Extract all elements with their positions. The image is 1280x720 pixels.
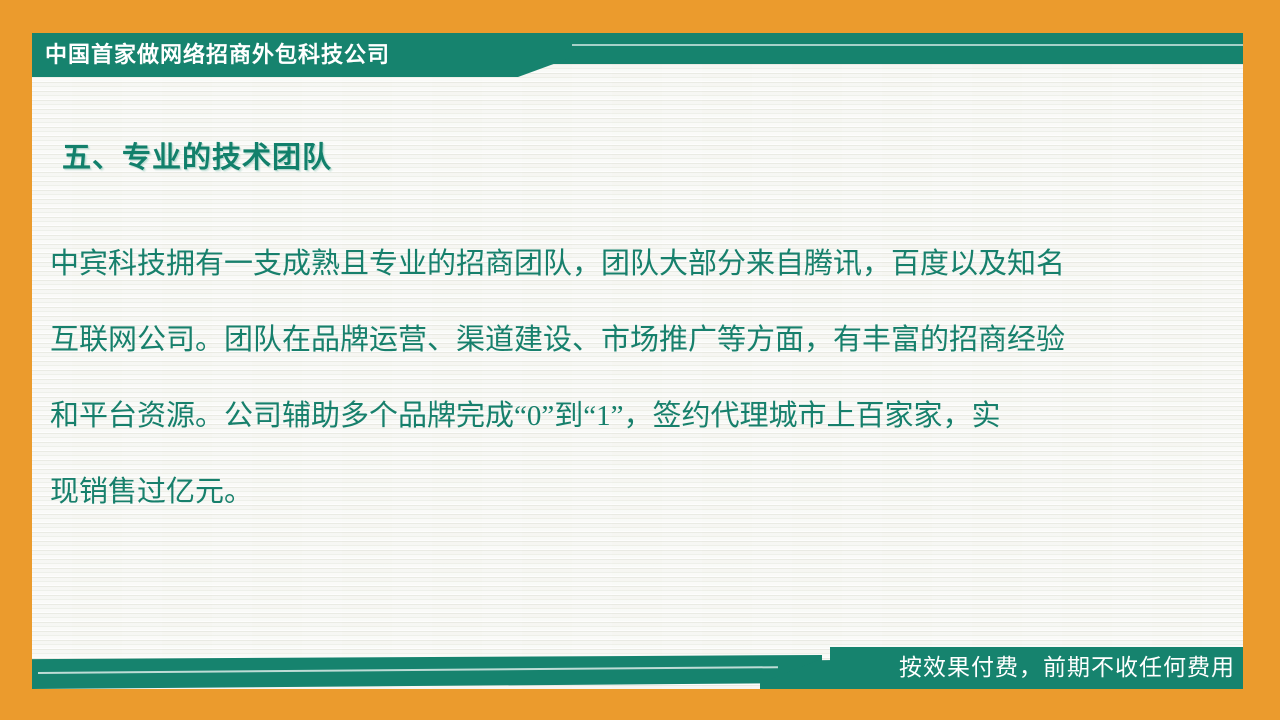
body-line: 现销售过亿元。 bbox=[50, 454, 1190, 530]
body-line: 和平台资源。公司辅助多个品牌完成“0”到“1”，签约代理城市上百家家，实 bbox=[50, 378, 1190, 454]
section-heading: 五、专业的技术团队 bbox=[62, 134, 332, 176]
slide-canvas: 中国首家做网络招商外包科技公司 五、专业的技术团队 中宾科技拥有一支成熟且专业的… bbox=[0, 0, 1280, 720]
body-paragraph: 中宾科技拥有一支成熟且专业的招商团队，团队大部分来自腾讯，百度以及知名 互联网公… bbox=[50, 226, 1190, 530]
body-line: 互联网公司。团队在品牌运营、渠道建设、市场推广等方面，有丰富的招商经验 bbox=[50, 302, 1190, 378]
frame-left-border bbox=[0, 0, 32, 720]
header-accent-bar bbox=[480, 33, 1243, 64]
body-line: 中宾科技拥有一支成熟且专业的招商团队，团队大部分来自腾讯，百度以及知名 bbox=[50, 226, 1190, 302]
header-title: 中国首家做网络招商外包科技公司 bbox=[45, 36, 565, 74]
frame-bottom-border bbox=[0, 689, 1280, 720]
top-orange-strip bbox=[0, 0, 1280, 33]
frame-right-border bbox=[1243, 0, 1280, 720]
header-accent-hairline bbox=[543, 44, 1243, 46]
footer-tagline: 按效果付费，前期不收任何费用 bbox=[899, 648, 1235, 686]
